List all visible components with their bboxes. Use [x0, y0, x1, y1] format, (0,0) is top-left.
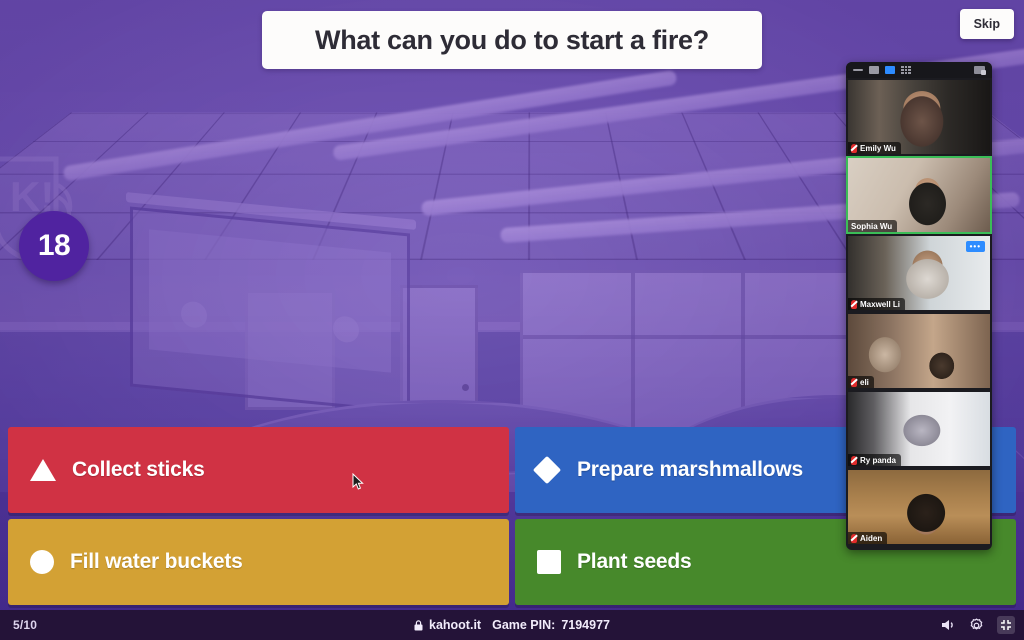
answer-label: Collect sticks: [72, 458, 205, 482]
mic-muted-icon: [851, 378, 857, 387]
speaker-view-icon[interactable]: [869, 66, 879, 74]
mic-muted-icon: [851, 456, 857, 465]
participant-name: Sophia Wu: [851, 222, 892, 231]
participant-nameplate: Emily Wu: [848, 142, 901, 154]
participant-nameplate: Ry panda: [848, 454, 901, 466]
square-icon: [537, 550, 561, 574]
gallery-view-icon[interactable]: [901, 66, 911, 75]
participant-nameplate: Aiden: [848, 532, 887, 544]
bar-controls: [941, 616, 1015, 634]
timer-value: 18: [38, 229, 70, 263]
mic-muted-icon: [851, 144, 857, 153]
mic-muted-icon: [851, 534, 857, 543]
answer-label: Prepare marshmallows: [577, 458, 803, 482]
game-info: kahoot.it Game PIN: 7194977: [0, 618, 1024, 632]
share-screen-icon[interactable]: [974, 66, 985, 74]
participant-name: Maxwell Li: [860, 300, 900, 309]
countdown-timer: 18: [19, 211, 89, 281]
gear-icon[interactable]: [969, 618, 984, 633]
triangle-icon: [30, 459, 56, 481]
lock-icon: [414, 620, 423, 631]
minimize-icon[interactable]: [853, 69, 863, 71]
participant-tile[interactable]: eli: [846, 312, 992, 390]
question-banner: What can you do to start a fire?: [262, 11, 762, 69]
bottom-status-bar: 5/10 kahoot.it Game PIN: 7194977: [0, 610, 1024, 640]
participant-tile[interactable]: Sophia Wu: [846, 156, 992, 234]
answer-label: Plant seeds: [577, 550, 692, 574]
answer-option-red[interactable]: Collect sticks: [8, 427, 509, 513]
participant-name: Aiden: [860, 534, 882, 543]
participant-nameplate: Sophia Wu: [848, 220, 897, 232]
participant-tile[interactable]: Ry panda: [846, 390, 992, 468]
game-pin-value: 7194977: [561, 618, 610, 632]
question-text: What can you do to start a fire?: [315, 25, 709, 56]
more-options-icon[interactable]: •••: [966, 241, 985, 252]
kahoot-stage: K! What can you do to start a fire? Skip…: [0, 0, 1024, 640]
participant-tile[interactable]: Emily Wu: [846, 78, 992, 156]
participant-nameplate: eli: [848, 376, 874, 388]
participant-tile[interactable]: ••• Maxwell Li: [846, 234, 992, 312]
zoom-video-panel[interactable]: Emily Wu Sophia Wu ••• Maxwell Li eli: [846, 62, 992, 550]
answer-label: Fill water buckets: [70, 550, 243, 574]
participant-nameplate: Maxwell Li: [848, 298, 905, 310]
strip-view-icon[interactable]: [885, 66, 895, 74]
diamond-icon: [533, 456, 561, 484]
zoom-toolbar[interactable]: [846, 62, 992, 78]
participant-name: Emily Wu: [860, 144, 896, 153]
question-progress: 5/10: [13, 618, 37, 632]
skip-button[interactable]: Skip: [960, 9, 1014, 39]
circle-icon: [30, 550, 54, 574]
mic-muted-icon: [851, 300, 857, 309]
participant-name: Ry panda: [860, 456, 896, 465]
game-pin-label: Game PIN:: [492, 618, 555, 632]
participant-tile[interactable]: Aiden: [846, 468, 992, 546]
volume-icon[interactable]: [941, 618, 956, 632]
answer-option-yellow[interactable]: Fill water buckets: [8, 519, 509, 605]
exit-fullscreen-icon[interactable]: [997, 616, 1015, 634]
site-url: kahoot.it: [429, 618, 481, 632]
participant-name: eli: [860, 378, 869, 387]
